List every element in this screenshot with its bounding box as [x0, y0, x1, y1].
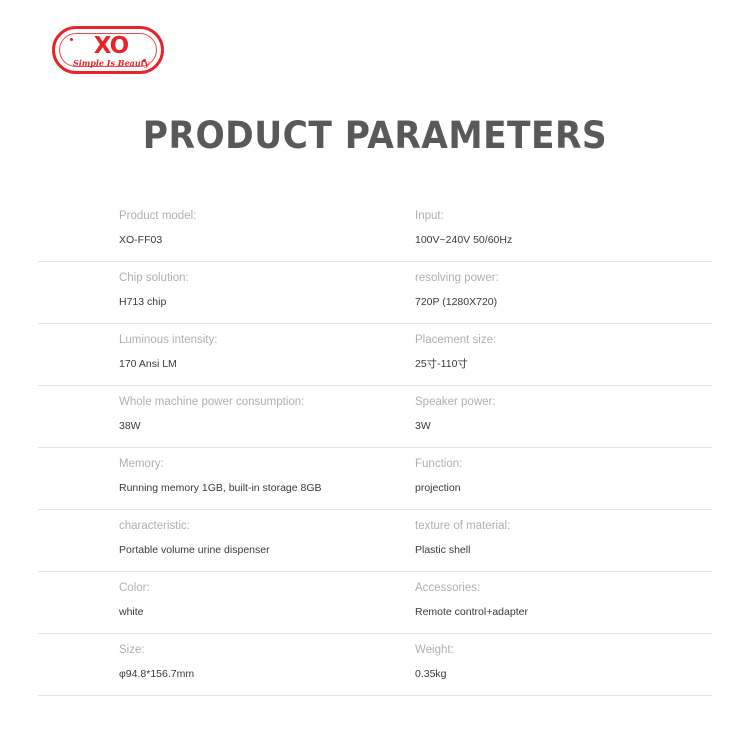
spec-label: Product model: [119, 209, 375, 223]
spec-cell-right: Function: projection [375, 448, 712, 509]
spec-value: 25寸-110寸 [415, 358, 712, 371]
spec-label: Chip solution: [119, 271, 375, 285]
spec-cell-left: Product model: XO-FF03 [38, 200, 375, 261]
table-row: Whole machine power consumption: 38W Spe… [38, 386, 712, 448]
spec-value: 720P (1280X720) [415, 296, 712, 309]
table-row: Memory: Running memory 1GB, built-in sto… [38, 448, 712, 510]
spec-value: Running memory 1GB, built-in storage 8GB [119, 482, 375, 495]
spec-cell-left: Chip solution: H713 chip [38, 262, 375, 323]
spec-cell-left: characteristic: Portable volume urine di… [38, 510, 375, 571]
spec-value: 100V~240V 50/60Hz [415, 234, 712, 247]
spec-cell-right: resolving power: 720P (1280X720) [375, 262, 712, 323]
spec-cell-left: Memory: Running memory 1GB, built-in sto… [38, 448, 375, 509]
spec-value: φ94.8*156.7mm [119, 668, 375, 681]
table-row: Color: white Accessories: Remote control… [38, 572, 712, 634]
page-title: PRODUCT PARAMETERS [26, 114, 724, 157]
spec-cell-right: Speaker power: 3W [375, 386, 712, 447]
spec-cell-right: Placement size: 25寸-110寸 [375, 324, 712, 385]
spec-label: Accessories: [415, 581, 712, 595]
spec-label: Whole machine power consumption: [119, 395, 375, 409]
spec-label: Memory: [119, 457, 375, 471]
table-row: Product model: XO-FF03 Input: 100V~240V … [38, 200, 712, 262]
logo-wordmark: XO [55, 34, 167, 58]
spec-value: Portable volume urine dispenser [119, 544, 375, 557]
specification-table: Product model: XO-FF03 Input: 100V~240V … [38, 200, 712, 696]
table-row: Luminous intensity: 170 Ansi LM Placemen… [38, 324, 712, 386]
spec-value: XO-FF03 [119, 234, 375, 247]
spec-label: Size: [119, 643, 375, 657]
product-parameters-page: XO Simple Is Beauty PRODUCT PARAMETERS P… [0, 0, 750, 750]
spec-label: Speaker power: [415, 395, 712, 409]
spec-cell-left: Size: φ94.8*156.7mm [38, 634, 375, 695]
spec-value: 170 Ansi LM [119, 358, 375, 371]
spec-cell-left: Color: white [38, 572, 375, 633]
table-row: Size: φ94.8*156.7mm Weight: 0.35kg [38, 634, 712, 696]
brand-logo: XO Simple Is Beauty [52, 26, 164, 74]
spec-label: texture of material: [415, 519, 712, 533]
spec-value: 0.35kg [415, 668, 712, 681]
spec-label: resolving power: [415, 271, 712, 285]
spec-cell-left: Luminous intensity: 170 Ansi LM [38, 324, 375, 385]
logo-tagline: Simple Is Beauty [55, 58, 167, 68]
spec-cell-right: Accessories: Remote control+adapter [375, 572, 712, 633]
spec-cell-right: texture of material: Plastic shell [375, 510, 712, 571]
logo-badge-outline: XO Simple Is Beauty [52, 26, 164, 74]
spec-value: 38W [119, 420, 375, 433]
spec-cell-left: Whole machine power consumption: 38W [38, 386, 375, 447]
spec-value: H713 chip [119, 296, 375, 309]
spec-value: Remote control+adapter [415, 606, 712, 619]
spec-label: Color: [119, 581, 375, 595]
spec-label: characteristic: [119, 519, 375, 533]
spec-value: Plastic shell [415, 544, 712, 557]
spec-value: projection [415, 482, 712, 495]
spec-cell-right: Input: 100V~240V 50/60Hz [375, 200, 712, 261]
spec-label: Function: [415, 457, 712, 471]
spec-value: white [119, 606, 375, 619]
spec-label: Weight: [415, 643, 712, 657]
spec-label: Placement size: [415, 333, 712, 347]
table-row: Chip solution: H713 chip resolving power… [38, 262, 712, 324]
spec-label: Input: [415, 209, 712, 223]
table-row: characteristic: Portable volume urine di… [38, 510, 712, 572]
spec-value: 3W [415, 420, 712, 433]
spec-cell-right: Weight: 0.35kg [375, 634, 712, 695]
spec-label: Luminous intensity: [119, 333, 375, 347]
